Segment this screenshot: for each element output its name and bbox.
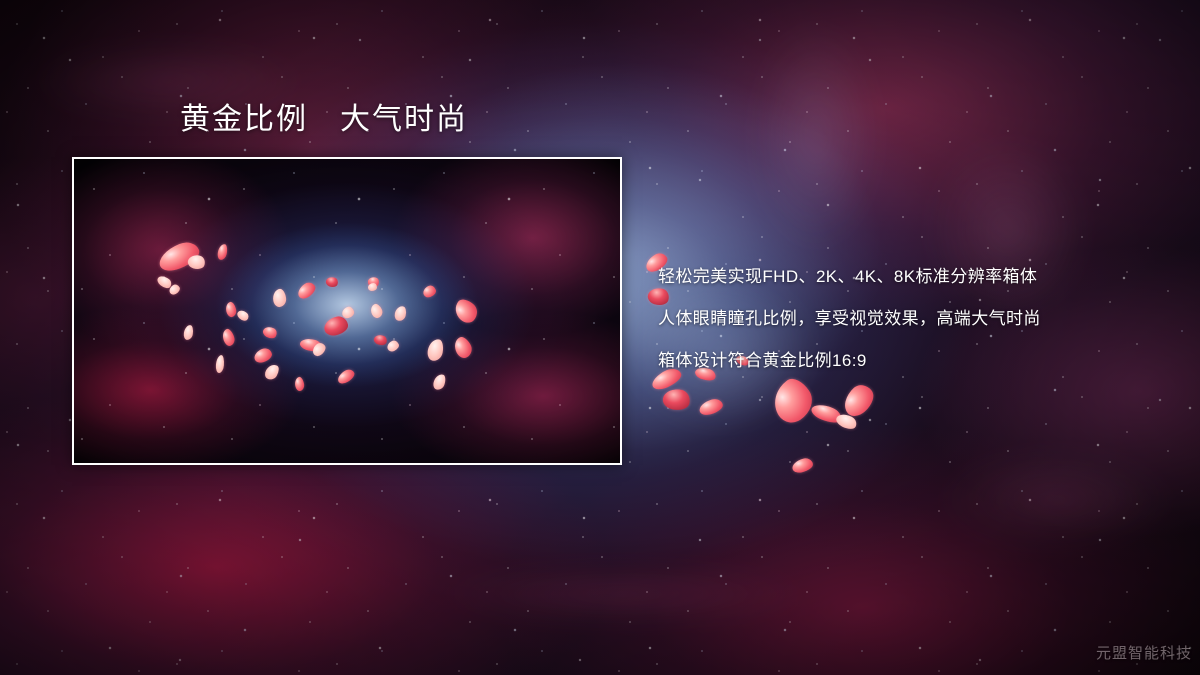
body-text-block: 轻松完美实现FHD、2K、4K、8K标准分辨率箱体 人体眼睛瞳孔比例，享受视觉效…	[658, 256, 1158, 382]
body-line-3: 箱体设计符合黄金比例16:9	[658, 340, 1158, 382]
body-line-1: 轻松完美实现FHD、2K、4K、8K标准分辨率箱体	[658, 256, 1158, 298]
petal-icon	[698, 397, 725, 417]
petal-icon	[661, 386, 692, 412]
page-title: 黄金比例 大气时尚	[180, 102, 468, 138]
petal-icon	[791, 457, 815, 475]
watermark-text: 元盟智能科技	[1096, 642, 1192, 663]
petal-icon	[368, 283, 377, 291]
slide-canvas: 黄金比例 大气时尚	[0, 0, 1200, 675]
framed-image	[72, 157, 622, 465]
body-line-2: 人体眼睛瞳孔比例，享受视觉效果，高端大气时尚	[658, 298, 1158, 340]
